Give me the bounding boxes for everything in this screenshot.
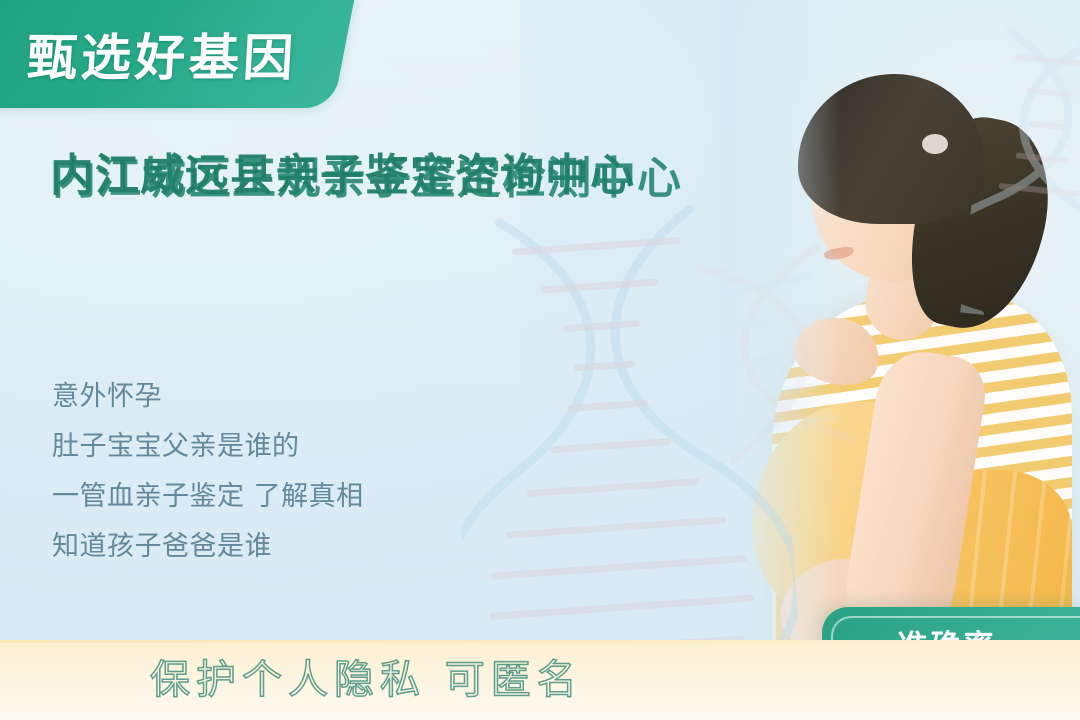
- poster-canvas: 甄选好基因 内江城区正规亲子鉴定检测中心 内江威远县亲子鉴定咨询中心 意外怀孕 …: [0, 0, 1080, 720]
- copy-line: 知道孩子爸爸是谁: [52, 522, 532, 572]
- photo-hair-tie: [922, 134, 948, 154]
- bottom-banner-text: 保护个人隐私 可匿名: [150, 654, 583, 706]
- copy-line: 肚子宝宝父亲是谁的: [52, 422, 532, 472]
- page-title: 内江城区正规亲子鉴定检测中心 内江威远县亲子鉴定咨询中心: [50, 148, 880, 296]
- copy-line: 一管血亲子鉴定 了解真相: [52, 472, 532, 522]
- photo-left-fade: [720, 0, 840, 720]
- page-title-line-primary: 内江威远县亲子鉴定咨询中心: [50, 148, 880, 203]
- bottom-banner: 保护个人隐私 可匿名: [0, 640, 1080, 720]
- marketing-copy: 意外怀孕 肚子宝宝父亲是谁的 一管血亲子鉴定 了解真相 知道孩子爸爸是谁: [52, 372, 532, 572]
- brand-logo-text: 甄选好基因: [15, 18, 299, 90]
- copy-line: 意外怀孕: [52, 372, 532, 422]
